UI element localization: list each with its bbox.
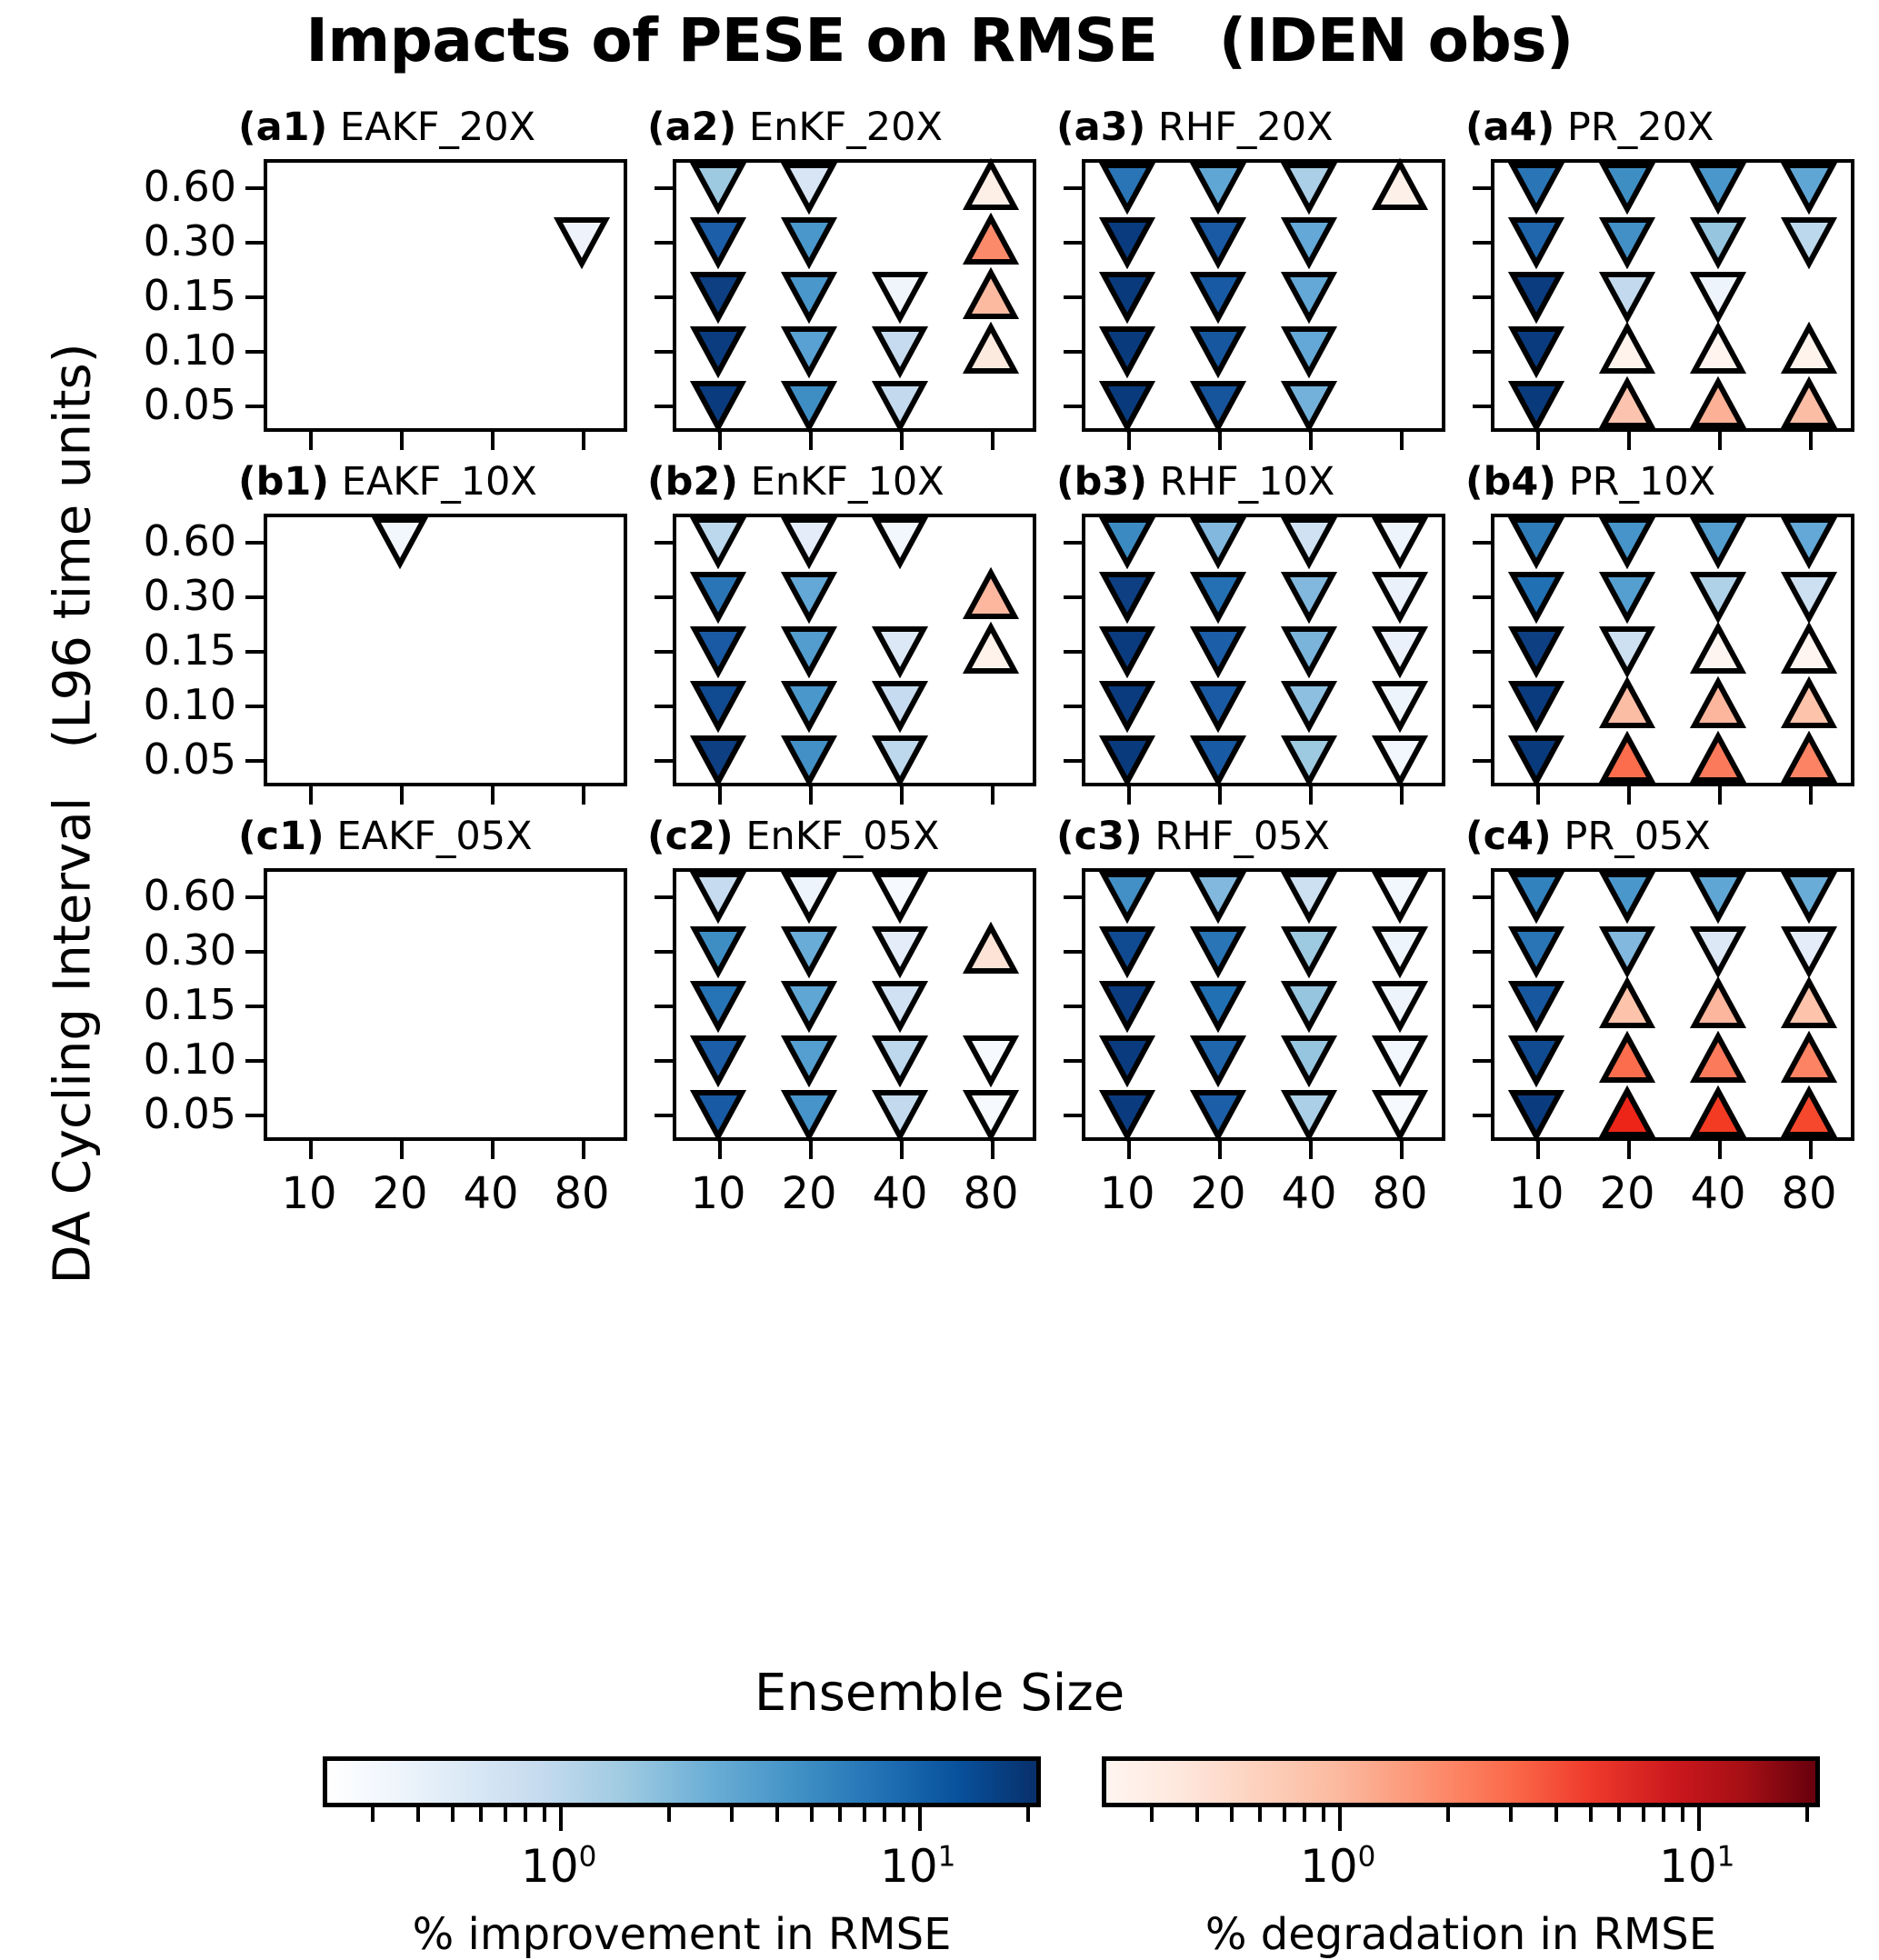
x-tick-label: 20 xyxy=(781,1172,836,1215)
degradation-marker xyxy=(1690,676,1746,733)
colorbar-major-tick xyxy=(918,1807,922,1831)
degradation-marker xyxy=(1781,976,1837,1033)
y-tick-mark xyxy=(655,1059,673,1063)
colorbar-tick-mantissa: 10 xyxy=(1300,1840,1358,1893)
x-tick-mark xyxy=(1309,786,1313,805)
colorbar-minor-tick xyxy=(775,1807,779,1822)
y-tick-mark xyxy=(245,705,264,708)
degradation-marker xyxy=(1690,976,1746,1033)
x-tick-label: 80 xyxy=(1781,1172,1836,1215)
improvement-marker xyxy=(1281,267,1337,324)
colorbar-minor-tick xyxy=(451,1807,455,1822)
improvement-marker xyxy=(1099,567,1155,624)
y-tick-label: 0.60 xyxy=(144,875,236,916)
panel-name: PR_10X xyxy=(1556,459,1715,505)
colorbar-tick-mantissa: 10 xyxy=(880,1840,938,1893)
x-tick-mark xyxy=(718,432,722,450)
x-tick-label: 40 xyxy=(463,1172,518,1215)
panel-enkf_10x: (b2) EnKF_10X xyxy=(673,514,1036,786)
degradation-marker xyxy=(1781,676,1837,733)
colorbar-gradient xyxy=(1102,1756,1820,1807)
improvement-marker xyxy=(1508,267,1564,324)
degradation-marker xyxy=(1599,676,1655,733)
y-tick-mark xyxy=(655,650,673,654)
improvement-marker xyxy=(1372,513,1428,569)
improvement-marker xyxy=(1190,976,1246,1033)
improvement-marker xyxy=(690,1031,746,1087)
improvement-marker xyxy=(1099,376,1155,433)
x-axis-title: Ensemble Size xyxy=(0,1664,1879,1723)
improvement-marker xyxy=(781,567,837,624)
x-tick-mark xyxy=(1627,432,1631,450)
improvement-marker xyxy=(1599,567,1655,624)
colorbar-caption: % improvement in RMSE xyxy=(323,1909,1041,1960)
panel-tag: (a4) xyxy=(1465,105,1554,150)
improvement-marker xyxy=(963,1085,1019,1142)
improvement-marker xyxy=(554,213,610,269)
colorbar-tick-label: 101 xyxy=(880,1840,955,1893)
y-tick-mark xyxy=(655,950,673,954)
improvement-marker xyxy=(1190,867,1246,924)
colorbar-minor-tick xyxy=(416,1807,420,1822)
improvement-marker xyxy=(1099,322,1155,378)
y-tick-mark xyxy=(245,186,264,190)
colorbar-tick-mantissa: 10 xyxy=(1659,1840,1717,1893)
colorbar-minor-tick xyxy=(1230,1807,1234,1822)
y-tick-mark xyxy=(1064,295,1082,299)
x-tick-label: 10 xyxy=(281,1172,336,1215)
y-tick-mark xyxy=(655,759,673,763)
improvement-marker xyxy=(1281,622,1337,678)
improvement-marker xyxy=(1690,867,1746,924)
degradation-marker xyxy=(1690,731,1746,787)
colorbar-minor-tick xyxy=(543,1807,546,1822)
improvement-marker xyxy=(1190,622,1246,678)
improvement-marker xyxy=(1599,513,1655,569)
colorbar-minor-tick xyxy=(1283,1807,1286,1822)
improvement-marker xyxy=(1372,922,1428,978)
improvement-marker xyxy=(1190,922,1246,978)
colorbar-improvement: 100101% improvement in RMSE xyxy=(323,1756,1041,1938)
improvement-marker xyxy=(1599,867,1655,924)
improvement-marker xyxy=(690,731,746,787)
panel-title: (a2) EnKF_20X xyxy=(647,105,1065,150)
y-tick-mark xyxy=(1064,759,1082,763)
panel-title: (c1) EAKF_05X xyxy=(238,814,656,859)
y-tick-mark xyxy=(245,541,264,545)
colorbar-minor-tick xyxy=(1195,1807,1199,1822)
improvement-marker xyxy=(1099,922,1155,978)
y-tick-label: 0.60 xyxy=(144,165,236,207)
x-tick-mark xyxy=(809,786,813,805)
improvement-marker xyxy=(690,867,746,924)
x-tick-mark xyxy=(400,1141,404,1159)
x-tick-mark xyxy=(1627,786,1631,805)
x-tick-mark xyxy=(718,786,722,805)
colorbar-minor-tick xyxy=(504,1807,507,1822)
y-tick-mark xyxy=(1473,705,1491,708)
x-tick-mark xyxy=(1400,786,1404,805)
y-tick-mark xyxy=(1473,1114,1491,1117)
improvement-marker xyxy=(1281,1085,1337,1142)
panel-pr_05x: (c4) PR_05X10204080 xyxy=(1491,868,1854,1141)
degradation-marker xyxy=(1372,158,1428,215)
y-tick-label: 0.10 xyxy=(144,684,236,725)
improvement-marker xyxy=(1508,567,1564,624)
x-tick-mark xyxy=(1809,1141,1813,1159)
degradation-marker xyxy=(1781,731,1837,787)
colorbar-major-tick xyxy=(1697,1807,1701,1831)
x-tick-mark xyxy=(1536,432,1540,450)
y-tick-mark xyxy=(1473,186,1491,190)
panel-title: (c4) PR_05X xyxy=(1465,814,1879,859)
colorbar-minor-tick xyxy=(524,1807,527,1822)
y-tick-mark xyxy=(245,1005,264,1008)
x-tick-label: 80 xyxy=(963,1172,1018,1215)
panel-tag: (b3) xyxy=(1056,459,1147,505)
panel-frame xyxy=(264,159,627,432)
x-tick-mark xyxy=(1127,432,1131,450)
degradation-marker xyxy=(1599,1031,1655,1087)
improvement-marker xyxy=(1372,567,1428,624)
panel-name: RHF_20X xyxy=(1145,105,1333,150)
panel-name: PR_20X xyxy=(1554,105,1714,150)
x-tick-mark xyxy=(1718,786,1722,805)
degradation-marker xyxy=(1599,376,1655,433)
x-tick-mark xyxy=(1127,1141,1131,1159)
panel-enkf_05x: (c2) EnKF_05X10204080 xyxy=(673,868,1036,1141)
y-tick-mark xyxy=(1064,405,1082,408)
colorbar-minor-tick xyxy=(1589,1807,1593,1822)
improvement-marker xyxy=(1508,676,1564,733)
improvement-marker xyxy=(1099,731,1155,787)
colorbar-major-tick xyxy=(1338,1807,1342,1831)
improvement-marker xyxy=(690,513,746,569)
y-tick-mark xyxy=(655,705,673,708)
improvement-marker xyxy=(1281,922,1337,978)
degradation-marker xyxy=(1599,731,1655,787)
improvement-marker xyxy=(1281,867,1337,924)
x-tick-mark xyxy=(900,432,904,450)
colorbar-minor-tick xyxy=(479,1807,483,1822)
colorbar-minor-tick xyxy=(863,1807,866,1822)
improvement-marker xyxy=(1508,322,1564,378)
y-tick-label: 0.30 xyxy=(144,929,236,971)
improvement-marker xyxy=(872,1031,928,1087)
y-tick-mark xyxy=(655,295,673,299)
improvement-marker xyxy=(1099,676,1155,733)
y-tick-mark xyxy=(655,405,673,408)
y-tick-mark xyxy=(1473,350,1491,354)
x-tick-mark xyxy=(900,786,904,805)
panel-rhf_05x: (c3) RHF_05X10204080 xyxy=(1082,868,1445,1141)
improvement-marker xyxy=(1190,322,1246,378)
improvement-marker xyxy=(781,158,837,215)
y-tick-mark xyxy=(1473,405,1491,408)
panel-tag: (c2) xyxy=(647,814,734,859)
y-tick-mark xyxy=(245,650,264,654)
panel-name: RHF_05X xyxy=(1143,814,1330,859)
y-tick-mark xyxy=(245,1059,264,1063)
panel-title: (a4) PR_20X xyxy=(1465,105,1879,150)
colorbar-minor-tick xyxy=(1322,1807,1325,1822)
improvement-marker xyxy=(1281,158,1337,215)
improvement-marker xyxy=(781,976,837,1033)
improvement-marker xyxy=(1781,513,1837,569)
y-tick-label: 0.60 xyxy=(144,520,236,562)
x-tick-label: 10 xyxy=(1508,1172,1564,1215)
improvement-marker xyxy=(690,676,746,733)
improvement-marker xyxy=(1281,731,1337,787)
x-tick-mark xyxy=(1309,432,1313,450)
improvement-marker xyxy=(1690,213,1746,269)
improvement-marker xyxy=(1099,867,1155,924)
improvement-marker xyxy=(1372,622,1428,678)
improvement-marker xyxy=(1372,976,1428,1033)
improvement-marker xyxy=(1190,567,1246,624)
y-tick-label: 0.10 xyxy=(144,329,236,371)
improvement-marker xyxy=(781,513,837,569)
y-tick-mark xyxy=(1473,895,1491,899)
y-axis-title: DA Cycling Interval (L96 time units) xyxy=(44,375,103,1285)
y-tick-mark xyxy=(245,350,264,354)
improvement-marker xyxy=(1281,322,1337,378)
degradation-marker xyxy=(963,213,1019,269)
y-tick-mark xyxy=(1473,241,1491,245)
y-tick-label: 0.15 xyxy=(144,629,236,671)
improvement-marker xyxy=(872,322,928,378)
improvement-marker xyxy=(1190,1085,1246,1142)
improvement-marker xyxy=(1781,922,1837,978)
x-tick-mark xyxy=(1400,1141,1404,1159)
improvement-marker xyxy=(781,622,837,678)
improvement-marker xyxy=(1781,567,1837,624)
y-tick-mark xyxy=(1473,759,1491,763)
improvement-marker xyxy=(872,731,928,787)
y-tick-mark xyxy=(1064,1005,1082,1008)
improvement-marker xyxy=(690,376,746,433)
degradation-marker xyxy=(1599,322,1655,378)
degradation-marker xyxy=(963,622,1019,678)
panel-eakf_05x: (c1) EAKF_05X0.600.300.150.100.051020408… xyxy=(264,868,627,1141)
x-tick-mark xyxy=(1218,1141,1222,1159)
x-tick-mark xyxy=(1718,1141,1722,1159)
panel-title: (b2) EnKF_10X xyxy=(647,459,1065,505)
improvement-marker xyxy=(1599,213,1655,269)
improvement-marker xyxy=(690,622,746,678)
panel-title: (b4) PR_10X xyxy=(1465,459,1879,505)
y-tick-mark xyxy=(655,1114,673,1117)
x-tick-mark xyxy=(309,1141,313,1159)
improvement-marker xyxy=(1508,513,1564,569)
x-tick-label: 40 xyxy=(1281,1172,1336,1215)
improvement-marker xyxy=(1372,731,1428,787)
improvement-marker xyxy=(1508,922,1564,978)
colorbar-minor-tick xyxy=(1642,1807,1645,1822)
improvement-marker xyxy=(690,1085,746,1142)
y-tick-mark xyxy=(245,595,264,599)
colorbar-gradient xyxy=(323,1756,1041,1807)
panel-rhf_20x: (a3) RHF_20X xyxy=(1082,159,1445,432)
x-tick-label: 20 xyxy=(372,1172,427,1215)
x-tick-mark xyxy=(1127,786,1131,805)
y-tick-label: 0.30 xyxy=(144,220,236,262)
x-tick-mark xyxy=(309,432,313,450)
x-tick-mark xyxy=(991,786,994,805)
panel-title: (a1) EAKF_20X xyxy=(238,105,656,150)
degradation-marker xyxy=(963,267,1019,324)
improvement-marker xyxy=(963,1031,1019,1087)
colorbar-tick-label: 100 xyxy=(1300,1840,1375,1893)
improvement-marker xyxy=(781,731,837,787)
x-tick-mark xyxy=(491,786,495,805)
colorbar-minor-tick xyxy=(1617,1807,1621,1822)
panel-name: RHF_10X xyxy=(1147,459,1334,505)
x-tick-label: 40 xyxy=(872,1172,927,1215)
improvement-marker xyxy=(1690,567,1746,624)
y-tick-mark xyxy=(655,895,673,899)
improvement-marker xyxy=(1690,158,1746,215)
y-tick-mark xyxy=(245,295,264,299)
panel-title: (b3) RHF_10X xyxy=(1056,459,1474,505)
colorbar-tick-label: 100 xyxy=(521,1840,596,1893)
improvement-marker xyxy=(872,676,928,733)
y-tick-label: 0.30 xyxy=(144,575,236,616)
y-tick-mark xyxy=(245,895,264,899)
y-tick-mark xyxy=(245,1114,264,1117)
x-tick-mark xyxy=(582,1141,585,1159)
y-tick-mark xyxy=(1064,650,1082,654)
improvement-marker xyxy=(1099,158,1155,215)
y-tick-mark xyxy=(1473,595,1491,599)
improvement-marker xyxy=(1508,867,1564,924)
x-tick-mark xyxy=(900,1141,904,1159)
colorbar-minor-tick xyxy=(902,1807,905,1822)
improvement-marker xyxy=(1508,1031,1564,1087)
panel-name: EnKF_20X xyxy=(736,105,943,150)
x-tick-mark xyxy=(1536,786,1540,805)
improvement-marker xyxy=(1099,213,1155,269)
x-tick-label: 40 xyxy=(1690,1172,1745,1215)
colorbar-minor-tick xyxy=(1805,1807,1809,1822)
improvement-marker xyxy=(1372,676,1428,733)
improvement-marker xyxy=(690,267,746,324)
panel-name: PR_05X xyxy=(1552,814,1711,859)
colorbar-minor-tick xyxy=(1681,1807,1684,1822)
y-tick-mark xyxy=(655,541,673,545)
colorbar-minor-tick xyxy=(371,1807,375,1822)
y-tick-mark xyxy=(245,405,264,408)
improvement-marker xyxy=(1781,867,1837,924)
panel-rhf_10x: (b3) RHF_10X xyxy=(1082,514,1445,786)
x-tick-mark xyxy=(809,1141,813,1159)
y-tick-label: 0.15 xyxy=(144,984,236,1025)
y-tick-mark xyxy=(1473,650,1491,654)
y-tick-mark xyxy=(1064,241,1082,245)
x-tick-label: 10 xyxy=(1099,1172,1154,1215)
x-tick-mark xyxy=(1309,1141,1313,1159)
colorbar-tick-mantissa: 10 xyxy=(521,1840,579,1893)
improvement-marker xyxy=(690,976,746,1033)
y-tick-label: 0.10 xyxy=(144,1038,236,1080)
panel-tag: (a1) xyxy=(238,105,327,150)
y-tick-label: 0.15 xyxy=(144,275,236,316)
colorbar-major-tick xyxy=(559,1807,563,1831)
improvement-marker xyxy=(690,567,746,624)
improvement-marker xyxy=(1099,622,1155,678)
figure-root: Impacts of PESE on RMSE (IDEN obs) DA Cy… xyxy=(0,0,1879,1957)
panel-eakf_20x: (a1) EAKF_20X0.600.300.150.100.05 xyxy=(264,159,627,432)
improvement-marker xyxy=(781,1031,837,1087)
panel-eakf_10x: (b1) EAKF_10X0.600.300.150.100.05 xyxy=(264,514,627,786)
degradation-marker xyxy=(963,922,1019,978)
x-tick-mark xyxy=(491,432,495,450)
panel-frame xyxy=(264,514,627,786)
improvement-marker xyxy=(1599,622,1655,678)
improvement-marker xyxy=(1190,676,1246,733)
degradation-marker xyxy=(963,322,1019,378)
colorbar-tick-exponent: 1 xyxy=(1717,1840,1735,1873)
x-tick-label: 20 xyxy=(1190,1172,1245,1215)
improvement-marker xyxy=(781,267,837,324)
improvement-marker xyxy=(1781,213,1837,269)
improvement-marker xyxy=(1190,158,1246,215)
degradation-marker xyxy=(1690,376,1746,433)
improvement-marker xyxy=(781,867,837,924)
degradation-marker xyxy=(1781,622,1837,678)
y-tick-mark xyxy=(655,595,673,599)
colorbar-minor-tick xyxy=(667,1807,671,1822)
improvement-marker xyxy=(1508,622,1564,678)
improvement-marker xyxy=(1281,213,1337,269)
x-tick-mark xyxy=(1718,432,1722,450)
x-tick-mark xyxy=(991,432,994,450)
y-tick-mark xyxy=(1064,350,1082,354)
improvement-marker xyxy=(1190,213,1246,269)
improvement-marker xyxy=(1690,513,1746,569)
panel-name: EAKF_05X xyxy=(325,814,533,859)
improvement-marker xyxy=(1508,213,1564,269)
improvement-marker xyxy=(1781,158,1837,215)
improvement-marker xyxy=(1508,1085,1564,1142)
x-tick-mark xyxy=(1809,432,1813,450)
panel-enkf_20x: (a2) EnKF_20X xyxy=(673,159,1036,432)
improvement-marker xyxy=(690,213,746,269)
x-tick-label: 80 xyxy=(1372,1172,1427,1215)
colorbar-minor-tick xyxy=(1258,1807,1262,1822)
colorbar-tick-exponent: 1 xyxy=(938,1840,956,1873)
colorbar-tick-exponent: 0 xyxy=(1358,1840,1376,1873)
improvement-marker xyxy=(872,922,928,978)
improvement-marker xyxy=(781,1085,837,1142)
improvement-marker xyxy=(1281,976,1337,1033)
y-tick-label: 0.05 xyxy=(144,738,236,780)
improvement-marker xyxy=(1190,1031,1246,1087)
panel-pr_20x: (a4) PR_20X xyxy=(1491,159,1854,432)
colorbar-minor-tick xyxy=(883,1807,886,1822)
colorbar-degradation: 100101% degradation in RMSE xyxy=(1102,1756,1820,1938)
panel-tag: (a3) xyxy=(1056,105,1145,150)
improvement-marker xyxy=(1099,267,1155,324)
colorbar-minor-tick xyxy=(1150,1807,1154,1822)
y-tick-mark xyxy=(245,759,264,763)
x-tick-mark xyxy=(718,1141,722,1159)
x-tick-mark xyxy=(1809,786,1813,805)
improvement-marker xyxy=(872,867,928,924)
y-tick-mark xyxy=(245,241,264,245)
panel-title: (c2) EnKF_05X xyxy=(647,814,1065,859)
improvement-marker xyxy=(1099,976,1155,1033)
